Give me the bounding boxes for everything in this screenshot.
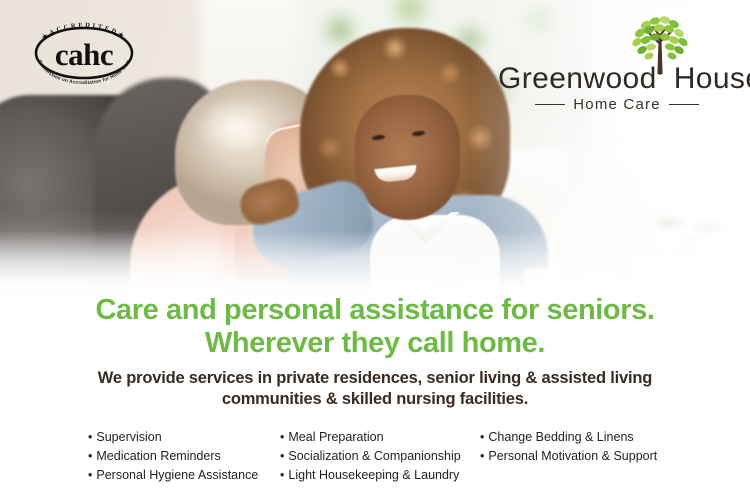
list-item: •Supervision [88, 428, 280, 447]
cahc-accreditation-badge-icon: ★ACCREDITED★ cahc Commission on Accredit… [20, 16, 148, 88]
list-item-label: Light Housekeeping & Laundry [288, 468, 459, 482]
services-column-2: •Meal Preparation •Socialization & Compa… [280, 428, 480, 485]
list-item-label: Personal Hygiene Assistance [96, 468, 258, 482]
headline-line-1: Care and personal assistance for seniors… [96, 294, 655, 326]
photo-caregiver-face [355, 95, 460, 220]
list-item: •Socialization & Companionship [280, 447, 480, 466]
subheadline-line-1: We provide services in private residence… [98, 369, 652, 387]
services-column-1: •Supervision •Medication Reminders •Pers… [88, 428, 280, 485]
bullet-icon: • [88, 447, 92, 466]
bullet-icon: • [280, 428, 284, 447]
list-item-label: Change Bedding & Linens [488, 430, 633, 444]
subheadline: We provide services in private residence… [0, 368, 750, 410]
list-item-label: Socialization & Companionship [288, 449, 460, 463]
greenwood-house-logo: GreenwoodHouse Home Care [498, 14, 736, 106]
logo-tagline-row: Home Care [498, 96, 736, 113]
list-item: •Personal Motivation & Support [480, 447, 680, 466]
bullet-icon: • [480, 447, 484, 466]
list-item: •Personal Hygiene Assistance [88, 466, 280, 485]
bullet-icon: • [280, 447, 284, 466]
list-item-label: Supervision [96, 430, 161, 444]
logo-word-house: House [674, 62, 750, 95]
bullet-icon: • [480, 428, 484, 447]
marketing-copy: Care and personal assistance for seniors… [0, 288, 750, 500]
logo-word-greenwood: Greenwood [498, 62, 657, 95]
logo-rule-left [535, 104, 565, 105]
bullet-icon: • [88, 428, 92, 447]
list-item: •Medication Reminders [88, 447, 280, 466]
services-list: •Supervision •Medication Reminders •Pers… [0, 428, 750, 485]
list-item: •Meal Preparation [280, 428, 480, 447]
list-item-label: Meal Preparation [288, 430, 383, 444]
logo-wordmark: GreenwoodHouse [498, 62, 736, 96]
svg-text:cahc: cahc [55, 37, 113, 72]
bullet-icon: • [280, 466, 284, 485]
list-item: •Change Bedding & Linens [480, 428, 680, 447]
list-item-label: Medication Reminders [96, 449, 220, 463]
bullet-icon: • [88, 466, 92, 485]
subheadline-line-2: communities & skilled nursing facilities… [62, 389, 688, 410]
list-item-label: Personal Motivation & Support [488, 449, 657, 463]
logo-tagline: Home Care [573, 96, 661, 113]
page-title: Care and personal assistance for seniors… [0, 288, 750, 360]
services-column-3: •Change Bedding & Linens •Personal Motiv… [480, 428, 680, 485]
home-care-advertisement: ★ACCREDITED★ cahc Commission on Accredit… [0, 0, 750, 500]
list-item: •Light Housekeeping & Laundry [280, 466, 480, 485]
headline-line-2: Wherever they call home. [0, 327, 750, 360]
logo-rule-right [669, 104, 699, 105]
